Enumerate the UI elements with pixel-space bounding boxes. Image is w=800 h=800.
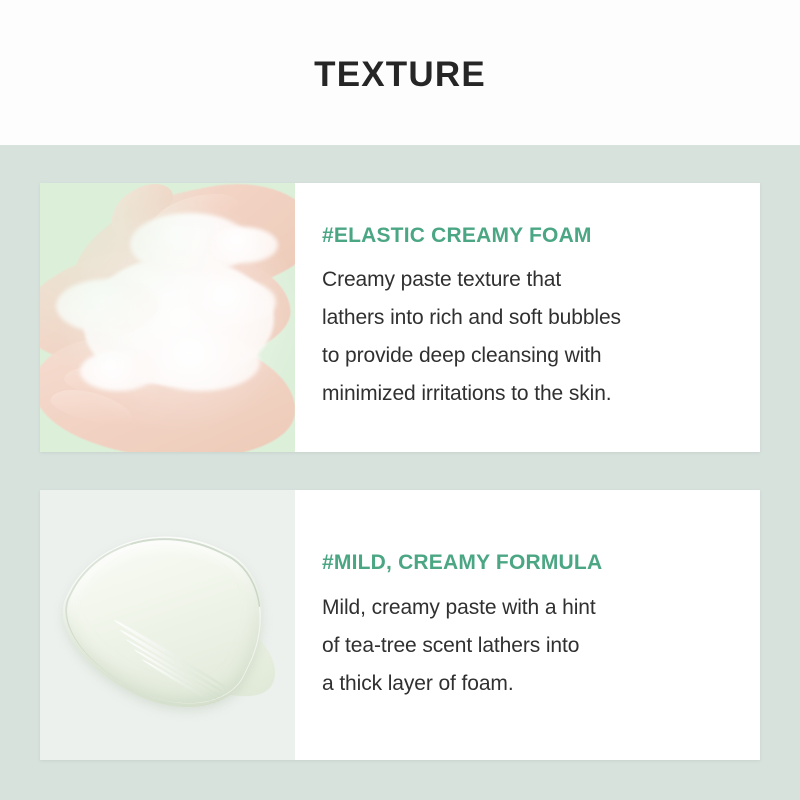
description-line: of tea-tree scent lathers into bbox=[322, 627, 736, 665]
foam-bubble-cluster-6 bbox=[208, 227, 278, 263]
page-header: TEXTURE bbox=[0, 0, 800, 145]
card-heading: #ELASTIC CREAMY FOAM bbox=[322, 224, 736, 247]
card-text-block: #MILD, CREAMY FORMULA Mild, creamy paste… bbox=[295, 490, 760, 760]
description-line: Creamy paste texture that bbox=[322, 261, 736, 299]
description-line: lathers into rich and soft bubbles bbox=[322, 299, 736, 337]
foam-bubble-cluster-5 bbox=[80, 351, 156, 391]
page-title: TEXTURE bbox=[314, 53, 486, 92]
cream-swatch-illustration bbox=[40, 490, 295, 760]
description-line: to provide deep cleansing with bbox=[322, 337, 736, 375]
foam-bubble-cluster-4 bbox=[190, 279, 276, 325]
texture-card-mild-creamy-formula: #MILD, CREAMY FORMULA Mild, creamy paste… bbox=[40, 490, 760, 760]
hands-lathering-foam-photo bbox=[40, 183, 295, 452]
foam-illustration bbox=[40, 183, 295, 452]
description-line: Mild, creamy paste with a hint bbox=[322, 589, 736, 627]
card-description: Mild, creamy paste with a hint of tea-tr… bbox=[322, 589, 736, 703]
card-heading: #MILD, CREAMY FORMULA bbox=[322, 551, 736, 574]
description-line: minimized irritations to the skin. bbox=[322, 375, 736, 413]
card-text-block: #ELASTIC CREAMY FOAM Creamy paste textur… bbox=[295, 183, 760, 452]
page-body: #ELASTIC CREAMY FOAM Creamy paste textur… bbox=[0, 145, 800, 800]
card-description: Creamy paste texture that lathers into r… bbox=[322, 261, 736, 413]
foam-bubble-cluster-2 bbox=[56, 279, 160, 333]
cream-swatch-photo bbox=[40, 490, 295, 760]
foam-bubble-cluster-3 bbox=[142, 333, 260, 391]
texture-card-elastic-creamy-foam: #ELASTIC CREAMY FOAM Creamy paste textur… bbox=[40, 183, 760, 452]
description-line: a thick layer of foam. bbox=[322, 665, 736, 703]
